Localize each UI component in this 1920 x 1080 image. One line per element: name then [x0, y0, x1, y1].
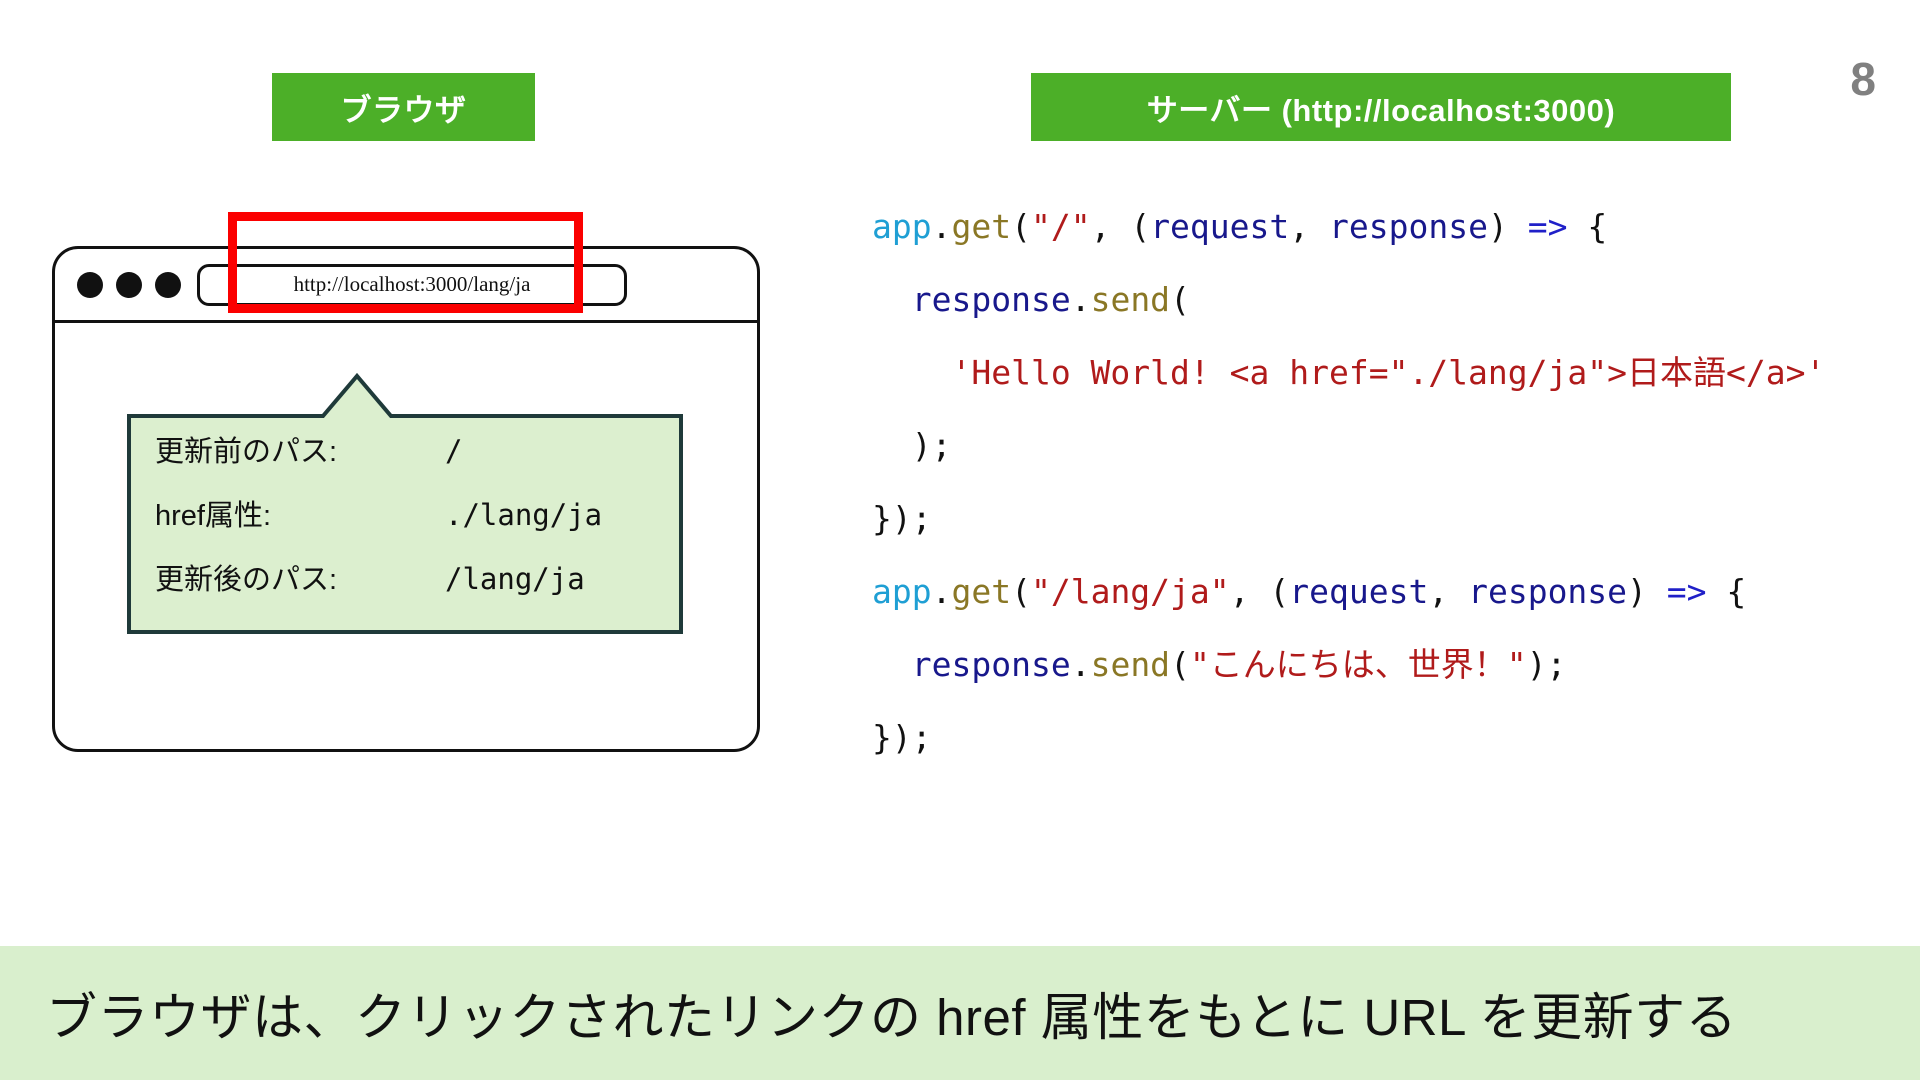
- code-token: response: [912, 280, 1071, 319]
- summary-banner: ブラウザは、クリックされたリンクの href 属性をもとに URL を更新する: [0, 946, 1920, 1080]
- code-token: , (: [1091, 207, 1151, 246]
- code-token: 'Hello World! <a href="./lang/ja">日本語</a…: [951, 353, 1825, 392]
- page-number: 8: [1850, 52, 1876, 106]
- code-line: });: [872, 482, 1825, 555]
- code-token: , (: [1230, 572, 1290, 611]
- code-token: get: [951, 207, 1011, 246]
- code-line: 'Hello World! <a href="./lang/ja">日本語</a…: [872, 336, 1825, 409]
- server-code-block: app.get("/", (request, response) => { re…: [872, 190, 1825, 774]
- code-token: {: [1567, 207, 1607, 246]
- code-token: });: [872, 499, 932, 538]
- address-bar[interactable]: http://localhost:3000/lang/ja: [197, 264, 627, 306]
- summary-banner-text: ブラウザは、クリックされたリンクの href 属性をもとに URL を更新する: [46, 976, 1737, 1050]
- callout-rows: 更新前のパス: / href属性: ./lang/ja 更新後のパス: /lan…: [127, 372, 683, 634]
- code-token: =>: [1667, 572, 1707, 611]
- callout-row-value: /: [445, 434, 462, 468]
- window-maximize-dot-icon[interactable]: [155, 272, 181, 298]
- code-token: [872, 645, 912, 684]
- code-token: (: [1170, 645, 1190, 684]
- code-token: send: [1091, 280, 1170, 319]
- path-callout: 更新前のパス: / href属性: ./lang/ja 更新後のパス: /lan…: [127, 372, 683, 634]
- section-badge-browser: ブラウザ: [272, 73, 535, 141]
- callout-row: href属性: ./lang/ja: [155, 492, 683, 556]
- window-control-dots: [77, 272, 181, 298]
- code-token: app: [872, 572, 932, 611]
- code-token: "/lang/ja": [1031, 572, 1230, 611]
- code-token: (: [1170, 280, 1190, 319]
- callout-row: 更新前のパス: /: [155, 428, 683, 492]
- code-token: });: [872, 718, 932, 757]
- code-line: });: [872, 701, 1825, 774]
- code-token: (: [1011, 572, 1031, 611]
- section-badge-server-label: サーバー (http://localhost:3000): [1147, 85, 1615, 130]
- code-token: "こんにちは、世界！": [1190, 645, 1527, 684]
- callout-row-value: ./lang/ja: [445, 498, 602, 532]
- code-token: .: [1071, 280, 1091, 319]
- code-token: );: [1527, 645, 1567, 684]
- callout-row-label: 更新後のパス:: [155, 556, 445, 598]
- code-token: response: [1468, 572, 1627, 611]
- code-token: send: [1091, 645, 1170, 684]
- callout-row-label: href属性:: [155, 492, 445, 534]
- code-token: request: [1150, 207, 1289, 246]
- code-token: ,: [1289, 207, 1329, 246]
- browser-chrome: http://localhost:3000/lang/ja: [55, 249, 757, 323]
- code-token: ,: [1428, 572, 1468, 611]
- code-token: {: [1707, 572, 1747, 611]
- code-token: response: [1329, 207, 1488, 246]
- code-token: .: [932, 572, 952, 611]
- callout-row: 更新後のパス: /lang/ja: [155, 556, 683, 620]
- code-line: app.get("/lang/ja", (request, response) …: [872, 555, 1825, 628]
- code-line: response.send("こんにちは、世界！");: [872, 628, 1825, 701]
- code-token: =>: [1528, 207, 1568, 246]
- code-token: ): [1488, 207, 1528, 246]
- address-bar-url: http://localhost:3000/lang/ja: [294, 272, 531, 297]
- code-token: request: [1289, 572, 1428, 611]
- callout-row-label: 更新前のパス:: [155, 428, 445, 470]
- code-token: [872, 280, 912, 319]
- code-line: );: [872, 409, 1825, 482]
- code-token: "/": [1031, 207, 1091, 246]
- code-token: .: [1071, 645, 1091, 684]
- window-minimize-dot-icon[interactable]: [116, 272, 142, 298]
- code-token: get: [951, 572, 1011, 611]
- code-line: response.send(: [872, 263, 1825, 336]
- code-token: response: [912, 645, 1071, 684]
- code-token: ): [1627, 572, 1667, 611]
- callout-row-value: /lang/ja: [445, 562, 585, 596]
- code-token: [872, 353, 951, 392]
- window-close-dot-icon[interactable]: [77, 272, 103, 298]
- code-token: app: [872, 207, 932, 246]
- section-badge-browser-label: ブラウザ: [341, 85, 467, 130]
- code-token: (: [1011, 207, 1031, 246]
- section-badge-server: サーバー (http://localhost:3000): [1031, 73, 1731, 141]
- code-line: app.get("/", (request, response) => {: [872, 190, 1825, 263]
- code-token: .: [932, 207, 952, 246]
- code-token: );: [872, 426, 951, 465]
